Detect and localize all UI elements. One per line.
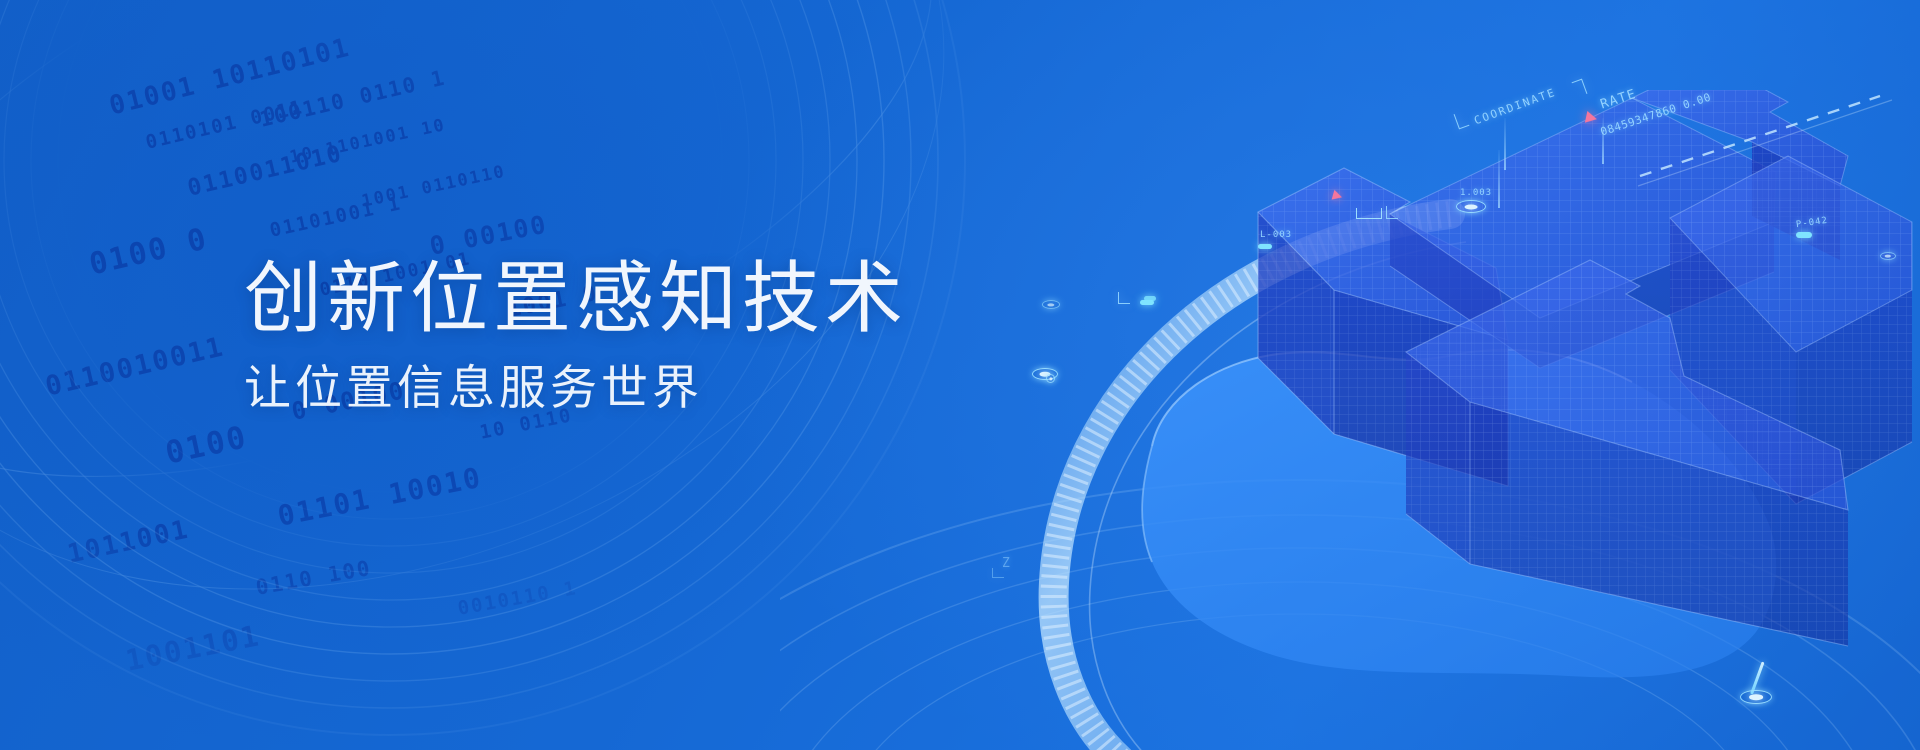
city-3d-model <box>1240 90 1920 650</box>
hero-text-block: 创新位置感知技术 让位置信息服务世界 <box>244 256 1064 415</box>
page-subtitle: 让位置信息服务世界 <box>244 362 1064 415</box>
page-title: 创新位置感知技术 <box>244 256 1064 340</box>
hero-banner: 01001 10110101 100110 0110 1 0110101 001… <box>0 0 1920 750</box>
